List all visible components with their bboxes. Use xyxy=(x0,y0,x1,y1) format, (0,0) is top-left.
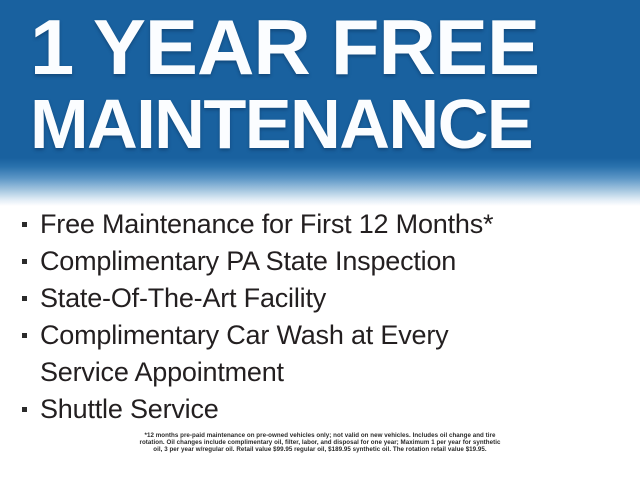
list-item-label: Shuttle Service xyxy=(40,391,622,428)
list-item: Shuttle Service xyxy=(22,391,622,428)
square-bullet-icon xyxy=(22,259,27,264)
list-item: State-Of-The-Art Facility xyxy=(22,280,622,317)
square-bullet-icon xyxy=(22,333,27,338)
square-bullet-icon xyxy=(22,407,27,412)
headline-line-2: MAINTENANCE xyxy=(30,87,629,161)
disclaimer: *12 months pre-paid maintenance on pre-o… xyxy=(42,432,598,453)
list-item-label: Complimentary Car Wash at Every Service … xyxy=(40,317,560,391)
headline: 1 YEAR FREE MAINTENANCE xyxy=(30,7,626,161)
promo-banner: 1 YEAR FREE MAINTENANCE Free Maintenance… xyxy=(0,0,640,480)
headline-line-1: 1 YEAR FREE xyxy=(30,7,638,87)
disclaimer-line-2: rotation. Oil changes include compliment… xyxy=(42,439,598,446)
list-item-label: State-Of-The-Art Facility xyxy=(40,280,622,317)
list-item-label: Complimentary PA State Inspection xyxy=(40,243,622,280)
disclaimer-line-3: oil, 3 per year w/regular oil. Retail va… xyxy=(42,446,598,453)
square-bullet-icon xyxy=(22,222,27,227)
list-item: Free Maintenance for First 12 Months* xyxy=(22,206,622,243)
list-item: Complimentary PA State Inspection xyxy=(22,243,622,280)
list-item: Complimentary Car Wash at Every Service … xyxy=(22,317,622,391)
disclaimer-line-1: *12 months pre-paid maintenance on pre-o… xyxy=(42,432,598,439)
square-bullet-icon xyxy=(22,296,27,301)
header-gradient-fade xyxy=(0,158,640,206)
offer-list: Free Maintenance for First 12 Months* Co… xyxy=(22,206,622,428)
banner-header: 1 YEAR FREE MAINTENANCE xyxy=(0,0,640,166)
list-item-label: Free Maintenance for First 12 Months* xyxy=(40,206,622,243)
